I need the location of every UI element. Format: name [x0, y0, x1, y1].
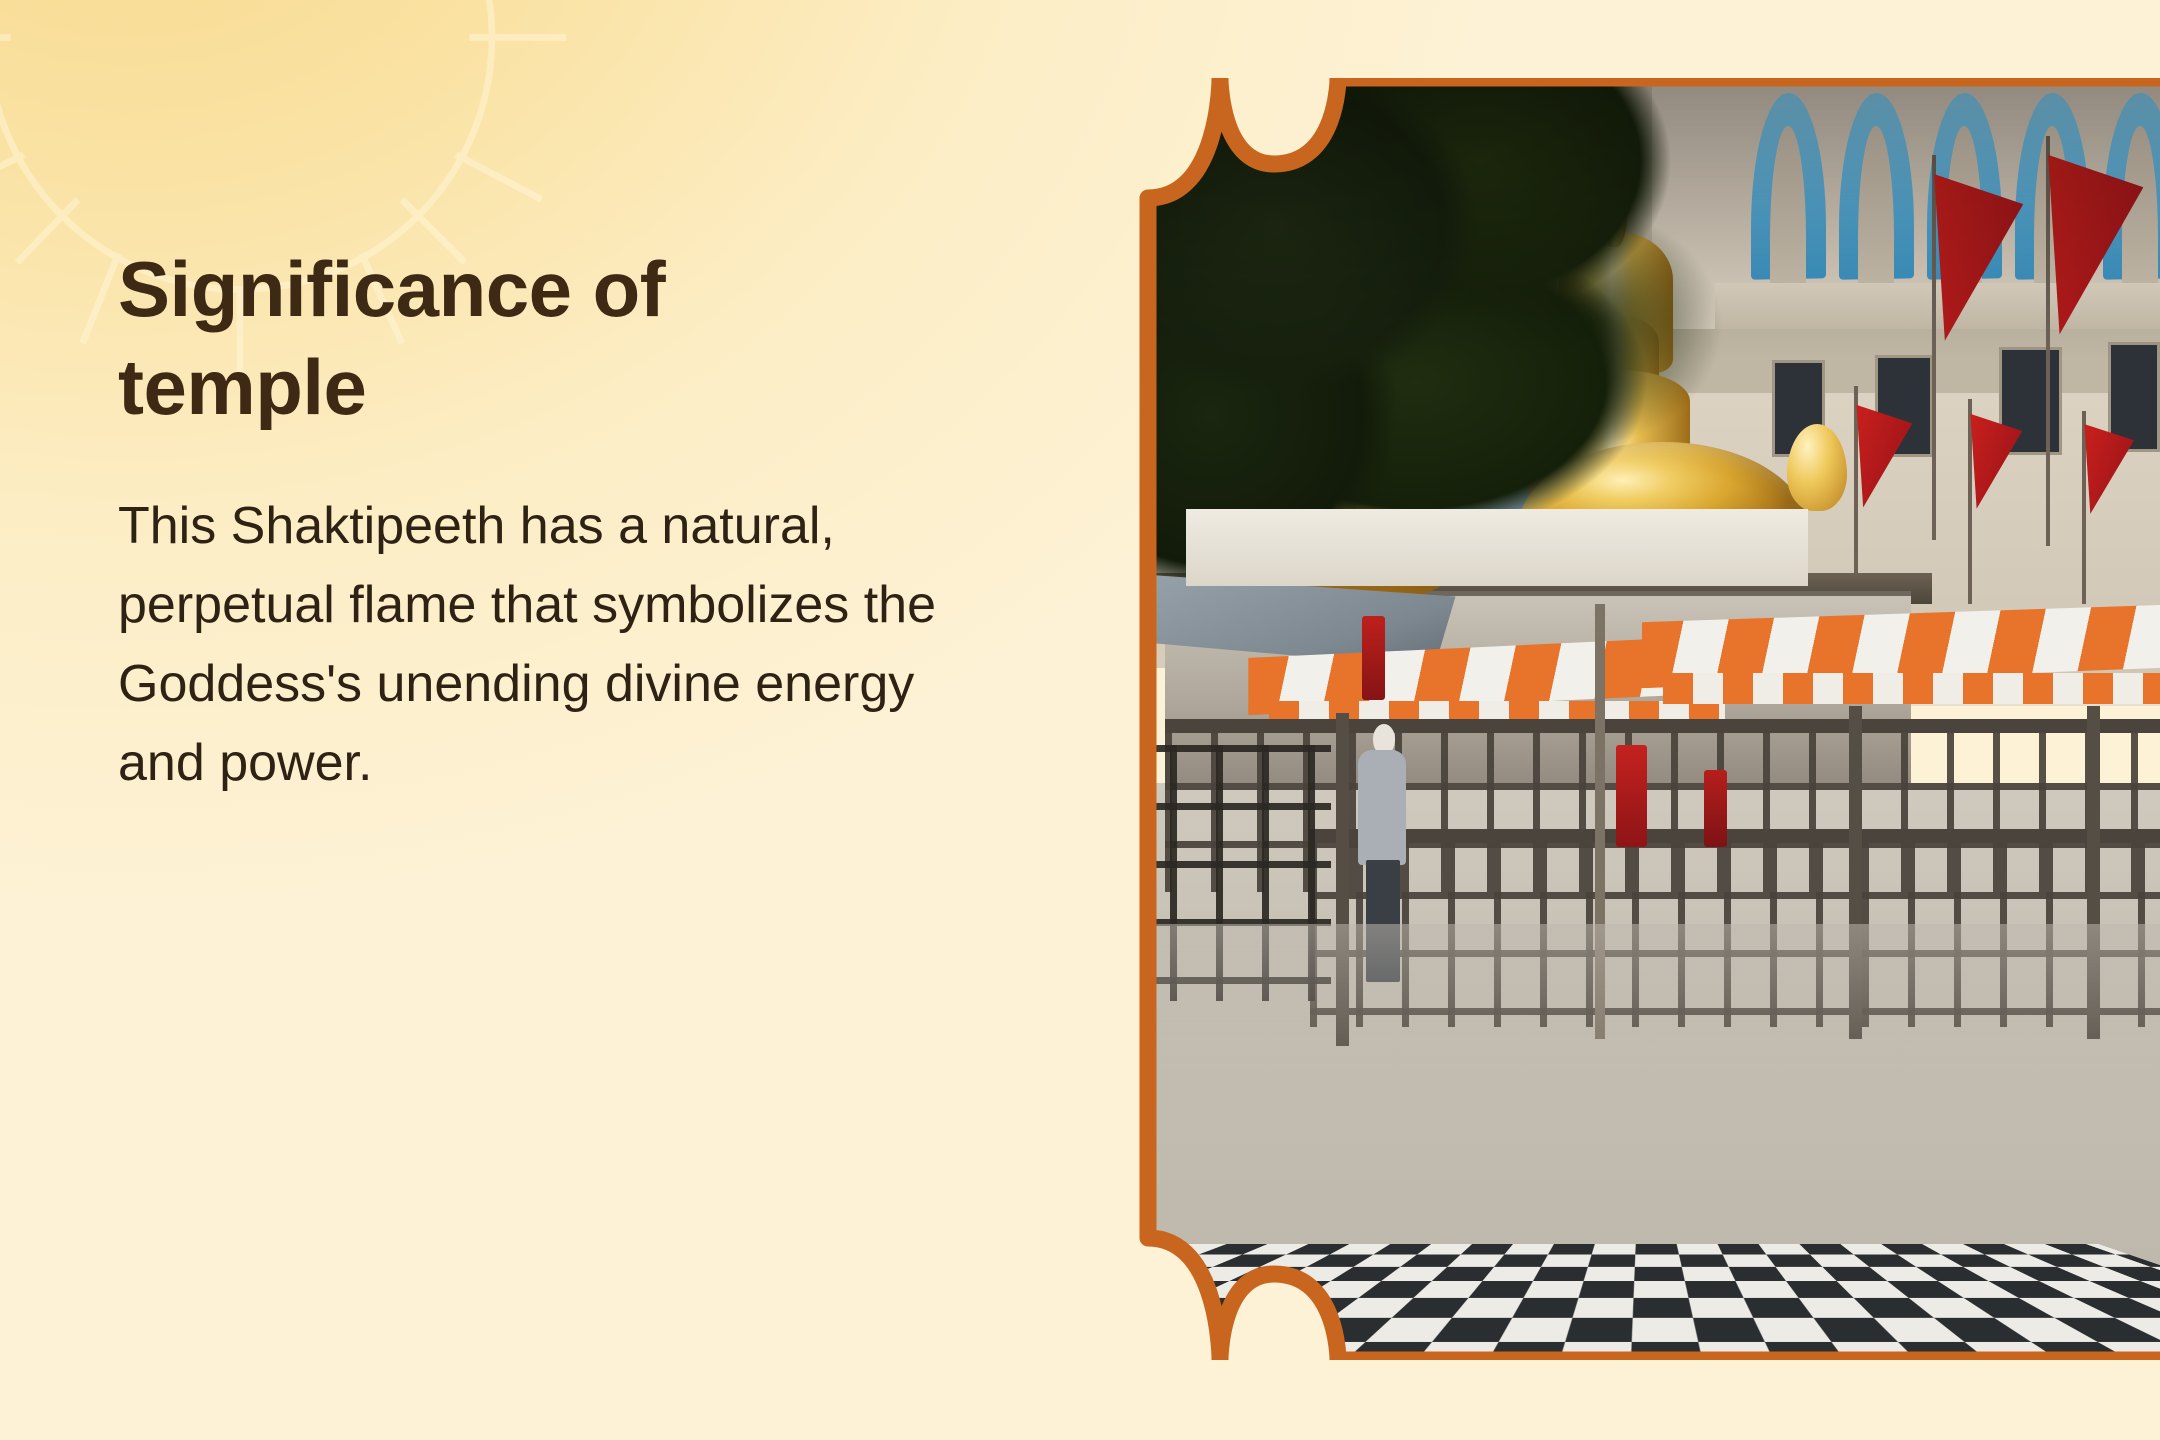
temple-photo-frame — [1124, 78, 2160, 1360]
page-title: Significance of temple — [118, 240, 818, 437]
slide-canvas: Significance of temple This Shaktipeeth … — [0, 0, 2160, 1440]
text-column: Significance of temple This Shaktipeeth … — [118, 240, 1018, 803]
body-paragraph: This Shaktipeeth has a natural, perpetua… — [118, 487, 998, 803]
temple-photo — [1124, 78, 2160, 1360]
